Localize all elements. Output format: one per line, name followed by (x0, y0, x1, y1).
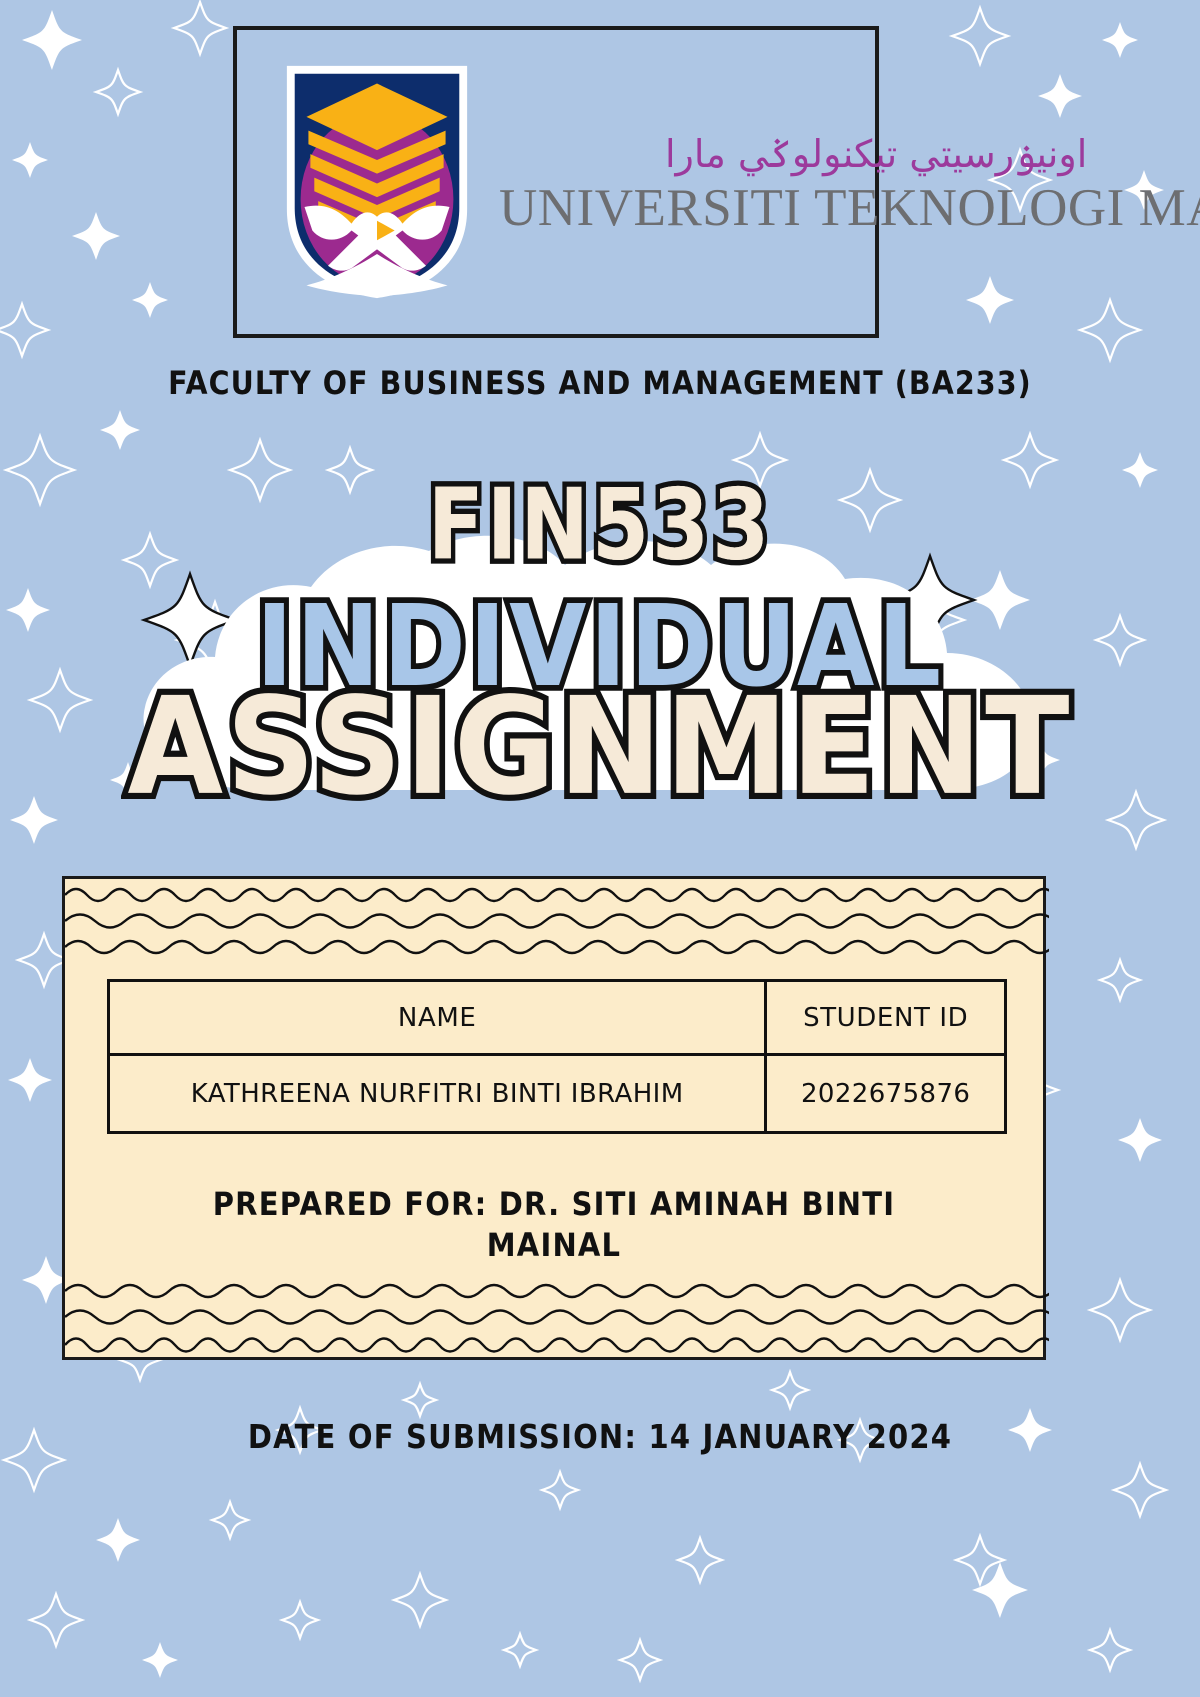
uitm-crest-icon (279, 62, 475, 302)
assignment-cover-page: اونيۏرسيتي تيکنولوݢي مارا UNIVERSITI TEK… (0, 0, 1200, 1697)
sparkle-icon (394, 1574, 446, 1626)
table-header-row: NAME STUDENT ID (109, 981, 1006, 1055)
sparkle-icon (1100, 960, 1140, 1000)
sparkle-icon (1118, 1118, 1162, 1162)
sparkle-icon (620, 1640, 660, 1680)
course-code-title: FIN533 (0, 469, 1200, 583)
prepared-for-line-2: MAINAL (487, 1226, 622, 1263)
logo-line-1: UNIVERSITI (499, 179, 801, 237)
wave-line (65, 889, 1049, 901)
logo-line-2: TEKNOLOGI (814, 179, 1125, 237)
sparkle-icon (212, 1502, 248, 1538)
wave-line (65, 1339, 1049, 1352)
cell-student-name: KATHREENA NURFITRI BINTI IBRAHIM (109, 1055, 766, 1133)
jawi-glyphs: اونيۏرسيتي تيکنولوݢي مارا (665, 132, 1087, 177)
sparkle-icon (678, 1538, 722, 1582)
column-header-name: NAME (109, 981, 766, 1055)
sparkle-icon (132, 282, 168, 318)
sparkle-icon (772, 1372, 808, 1408)
cell-student-id: 2022675876 (766, 1055, 1006, 1133)
sparkle-icon (72, 212, 120, 260)
sparkle-icon (282, 1602, 318, 1638)
sparkle-icon (22, 10, 82, 70)
sparkle-icon (96, 1518, 140, 1562)
sparkle-icon (952, 8, 1008, 64)
prepared-for-text: PREPARED FOR: DR. SITI AMINAH BINTI MAIN… (62, 1184, 1046, 1266)
logo-line-1-text: UNIVERSITI (499, 179, 801, 237)
sparkle-icon (966, 276, 1014, 324)
sparkle-icon (0, 304, 48, 356)
assignment-word-title: ASSIGNMENT (0, 670, 1200, 826)
sparkle-icon (542, 1472, 578, 1508)
submission-date-label: DATE OF SUBMISSION: 14 JANUARY 2024 (0, 1418, 1200, 1456)
wavy-border-bottom (65, 1281, 1049, 1355)
table-row: KATHREENA NURFITRI BINTI IBRAHIM 2022675… (109, 1055, 1006, 1133)
university-logo-box: اونيۏرسيتي تيکنولوݢي مارا UNIVERSITI TEK… (233, 26, 879, 338)
sparkle-icon (12, 142, 48, 178)
wave-line (65, 941, 1049, 953)
sparkle-icon (142, 1642, 178, 1678)
sparkle-icon (1090, 1630, 1130, 1670)
sparkle-icon (174, 2, 226, 54)
sparkle-icon (504, 1634, 536, 1666)
jawi-script-text: اونيۏرسيتي تيکنولوݢي مارا (499, 129, 1200, 181)
sparkle-icon (1102, 22, 1138, 58)
student-info-table: NAME STUDENT ID KATHREENA NURFITRI BINTI… (107, 979, 1007, 1134)
wave-line (65, 1285, 1049, 1297)
sparkle-icon (1038, 74, 1082, 118)
wave-line (65, 1311, 1049, 1324)
student-info-panel: NAME STUDENT ID KATHREENA NURFITRI BINTI… (62, 876, 1046, 1360)
sparkle-icon (1090, 1280, 1150, 1340)
sparkle-icon (8, 1058, 52, 1102)
university-wordmark: اونيۏرسيتي تيکنولوݢي مارا UNIVERSITI TEK… (499, 129, 1200, 234)
prepared-for-line-1: PREPARED FOR: DR. SITI AMINAH BINTI (213, 1185, 896, 1222)
column-header-student-id: STUDENT ID (766, 981, 1006, 1055)
sparkle-icon (956, 1536, 1004, 1584)
sparkle-icon (1114, 1464, 1166, 1516)
logo-line-2-text: TEKNOLOGI (814, 179, 1125, 237)
sparkle-icon (30, 1594, 82, 1646)
sparkle-icon (404, 1384, 436, 1416)
university-name-text: UNIVERSITI TEKNOLOGI MARA (499, 183, 1200, 234)
faculty-label: FACULTY OF BUSINESS AND MANAGEMENT (BA23… (0, 365, 1200, 402)
wavy-border-top (65, 881, 1049, 955)
sparkle-icon (972, 1562, 1028, 1618)
logo-line-3-text: MARA (1139, 179, 1200, 237)
logo-line-3: MARA (1139, 179, 1200, 237)
sparkle-icon (1080, 300, 1140, 360)
sparkle-icon (96, 70, 140, 114)
wave-line (65, 915, 1049, 928)
